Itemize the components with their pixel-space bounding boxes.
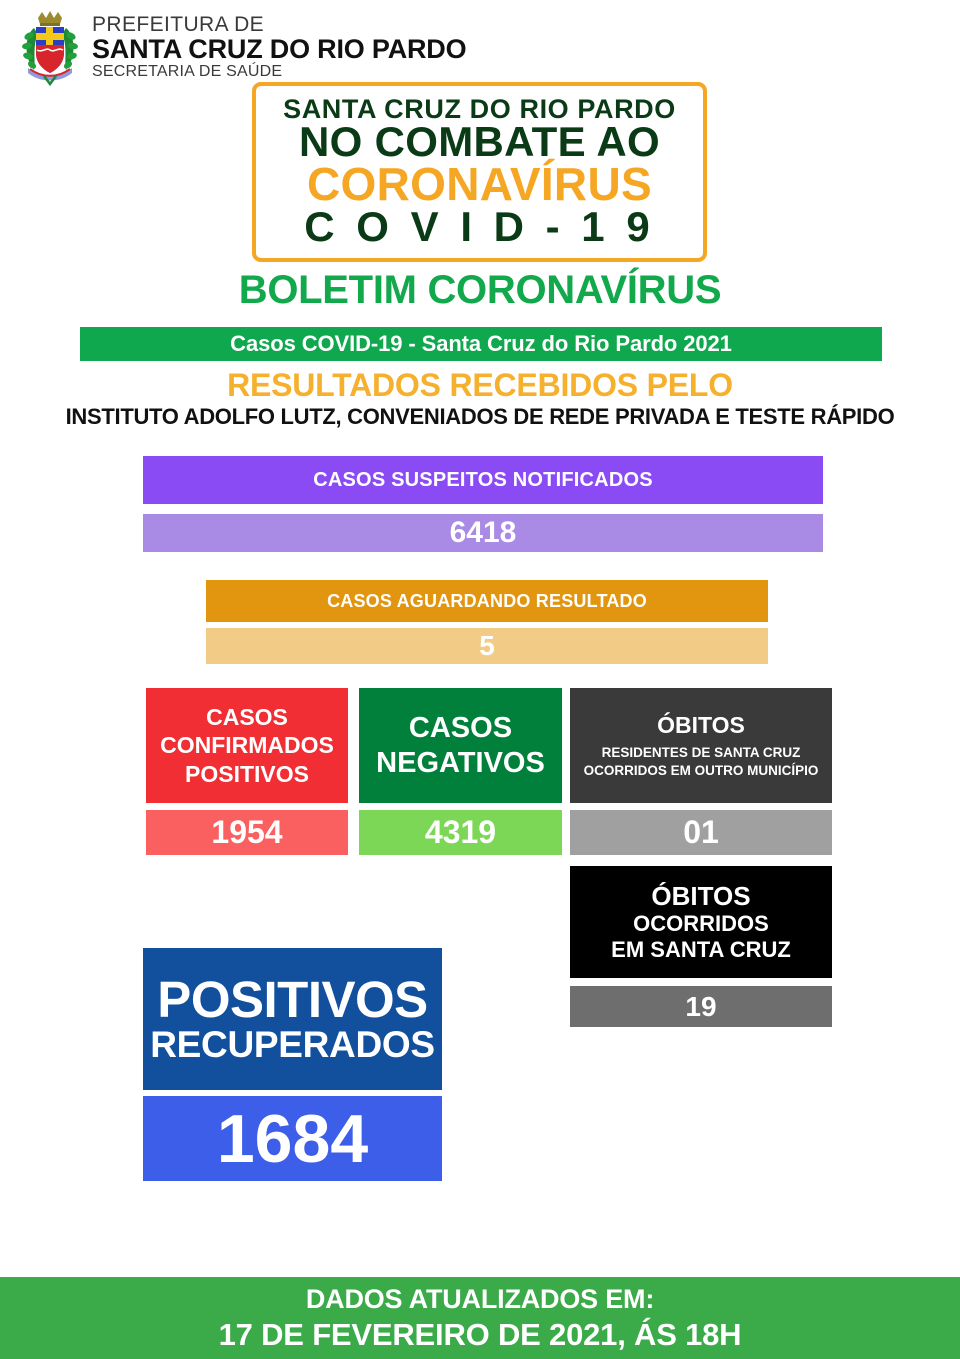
- recuperados-value: 1684: [143, 1096, 442, 1181]
- confirmados-label: CASOS CONFIRMADOS POSITIVOS: [146, 688, 348, 803]
- boletim-heading: BOLETIM CORONAVÍRUS: [0, 268, 960, 313]
- confirmados-label-line2: CONFIRMADOS: [160, 731, 334, 759]
- obitos-outro-municipio-value: 01: [570, 810, 832, 855]
- footer-line2: 17 DE FEVEREIRO DE 2021, ÁS 18H: [219, 1317, 742, 1353]
- brand-header: PREFEITURA DE SANTA CRUZ DO RIO PARDO SE…: [14, 6, 466, 86]
- negativos-value: 4319: [359, 810, 562, 855]
- obitos-outro-municipio-sub1: RESIDENTES DE SANTA CRUZ: [602, 744, 801, 762]
- recuperados-label-line1: POSITIVOS: [157, 974, 427, 1026]
- confirmados-label-line1: CASOS: [206, 703, 288, 731]
- obitos-santa-cruz-value: 19: [570, 986, 832, 1027]
- obitos-santa-cruz-title: ÓBITOS: [651, 882, 750, 911]
- negativos-label-line1: CASOS: [409, 711, 512, 745]
- resultados-heading: RESULTADOS RECEBIDOS PELO: [0, 367, 960, 404]
- negativos-label: CASOS NEGATIVOS: [359, 688, 562, 803]
- footer-line1: DADOS ATUALIZADOS EM:: [306, 1284, 654, 1315]
- recuperados-label: POSITIVOS RECUPERADOS: [143, 948, 442, 1090]
- obitos-santa-cruz-line2: OCORRIDOS: [633, 911, 769, 936]
- coat-of-arms-icon: [14, 6, 86, 86]
- recuperados-label-line2: RECUPERADOS: [150, 1026, 435, 1065]
- obitos-outro-municipio-title: ÓBITOS: [657, 712, 745, 738]
- suspeitos-value: 6418: [143, 514, 823, 552]
- update-footer: DADOS ATUALIZADOS EM: 17 DE FEVEREIRO DE…: [0, 1277, 960, 1359]
- campaign-title-box: SANTA CRUZ DO RIO PARDO NO COMBATE AO CO…: [252, 82, 707, 262]
- obitos-santa-cruz-line3: EM SANTA CRUZ: [611, 937, 791, 962]
- suspeitos-label: CASOS SUSPEITOS NOTIFICADOS: [143, 456, 823, 504]
- obitos-santa-cruz-label: ÓBITOS OCORRIDOS EM SANTA CRUZ: [570, 866, 832, 978]
- aguardando-value: 5: [206, 628, 768, 664]
- prefeitura-line1: PREFEITURA DE: [92, 14, 466, 35]
- title-coronavirus: CORONAVÍRUS: [307, 161, 652, 208]
- prefeitura-line2: SANTA CRUZ DO RIO PARDO: [92, 36, 466, 63]
- casos-summary-bar: Casos COVID-19 - Santa Cruz do Rio Pardo…: [80, 327, 882, 361]
- prefeitura-line3: SECRETARIA DE SAÚDE: [92, 64, 466, 80]
- aguardando-label: CASOS AGUARDANDO RESULTADO: [206, 580, 768, 622]
- instituto-subheading: INSTITUTO ADOLFO LUTZ, CONVENIADOS DE RE…: [0, 404, 960, 430]
- obitos-outro-municipio-sub2: OCORRIDOS EM OUTRO MUNICÍPIO: [584, 762, 819, 780]
- confirmados-label-line3: POSITIVOS: [185, 760, 309, 788]
- negativos-label-line2: NEGATIVOS: [376, 746, 545, 780]
- title-covid19: C O V I D - 1 9: [304, 206, 654, 249]
- confirmados-value: 1954: [146, 810, 348, 855]
- obitos-outro-municipio-label: ÓBITOS RESIDENTES DE SANTA CRUZ OCORRIDO…: [570, 688, 832, 803]
